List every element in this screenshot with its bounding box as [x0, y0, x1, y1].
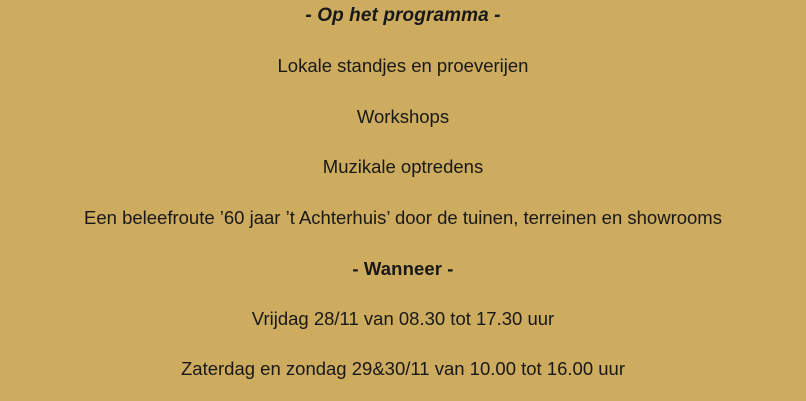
poster-canvas: - Op het programma - Lokale standjes en …: [0, 0, 806, 401]
program-item-music: Muzikale optredens: [0, 158, 806, 177]
when-item-weekend: Zaterdag en zondag 29&30/11 van 10.00 to…: [0, 360, 806, 379]
when-item-friday: Vrijdag 28/11 van 08.30 tot 17.30 uur: [0, 310, 806, 329]
program-item-stands: Lokale standjes en proeverijen: [0, 57, 806, 76]
program-item-experience-route: Een beleefroute ’60 jaar ’t Achterhuis’ …: [0, 209, 806, 228]
program-section-heading: - Op het programma -: [0, 6, 806, 25]
program-item-workshops: Workshops: [0, 108, 806, 127]
when-section-heading: - Wanneer -: [0, 260, 806, 279]
